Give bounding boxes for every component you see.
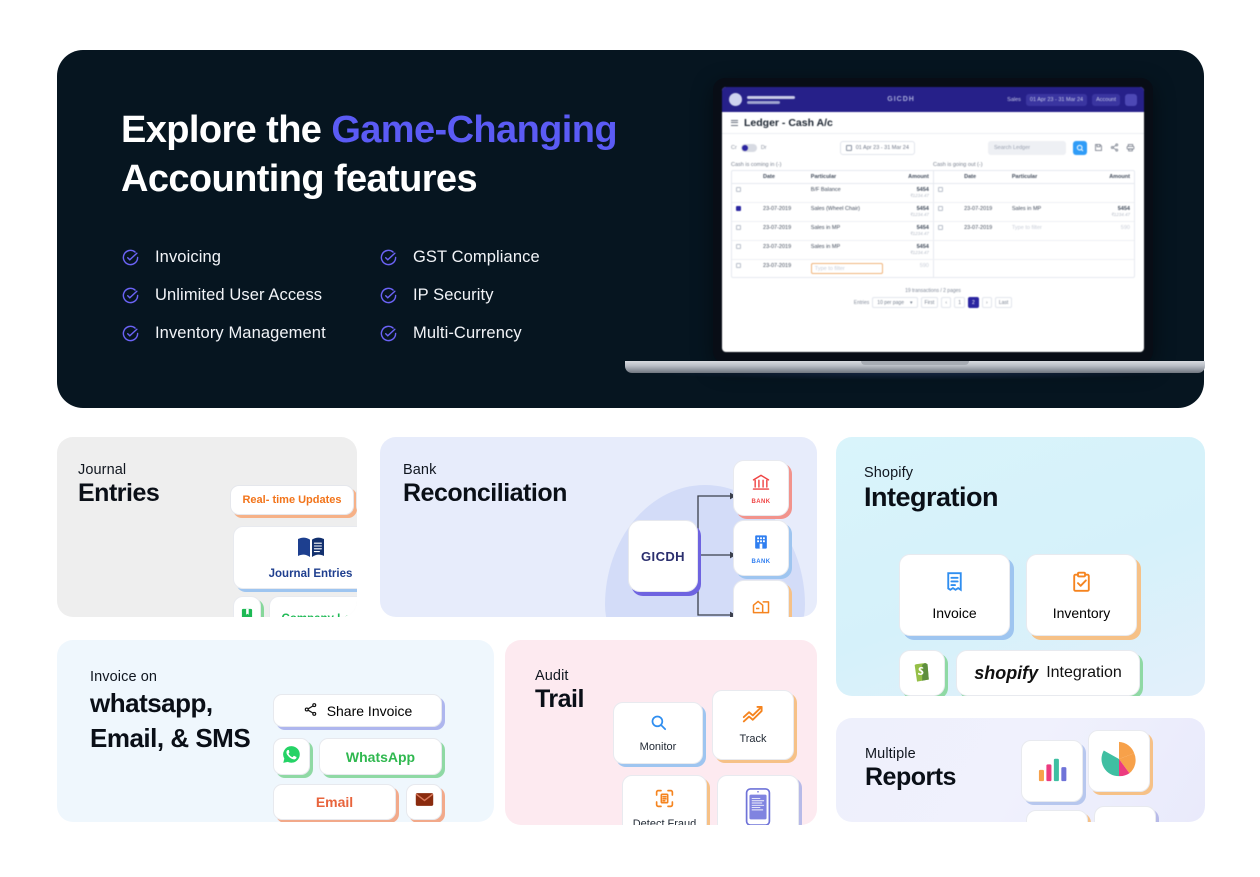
bank-node-caption: BANK bbox=[752, 559, 771, 565]
check-circle-icon bbox=[379, 286, 398, 305]
feature-label: Inventory Management bbox=[155, 324, 326, 343]
filter-input[interactable]: Type to filter bbox=[809, 260, 891, 277]
shopify-inventory-tile[interactable]: Inventory bbox=[1026, 554, 1137, 636]
topbar-sales-label[interactable]: Sales bbox=[1007, 97, 1021, 103]
gicdh-logo-text: GICDH bbox=[641, 549, 685, 564]
share-icon bbox=[303, 702, 318, 720]
row-checkbox[interactable] bbox=[736, 244, 741, 249]
pagination-first[interactable]: First bbox=[921, 297, 939, 308]
cell-particular-right bbox=[1010, 184, 1092, 202]
email-icon-button[interactable] bbox=[406, 784, 442, 820]
pagination-last[interactable]: Last bbox=[995, 297, 1012, 308]
app-topbar-actions: Sales 01 Apr 23 - 31 Mar 24 Account bbox=[1007, 94, 1137, 106]
col-date-right: Date bbox=[962, 171, 1010, 183]
pagination-next[interactable]: › bbox=[982, 297, 992, 308]
col-amount-right: Amount bbox=[1092, 171, 1134, 183]
topbar-daterange[interactable]: 01 Apr 23 - 31 Mar 24 bbox=[1026, 94, 1087, 106]
search-ledger-input[interactable]: Search Ledger bbox=[988, 141, 1066, 155]
audit-monitor-tile[interactable]: Monitor bbox=[613, 702, 703, 764]
card-header: Multiple Reports bbox=[865, 746, 956, 792]
shopify-bag-icon bbox=[911, 659, 933, 688]
pagination-summary: 19 transactions / 2 pages bbox=[722, 288, 1144, 294]
bar-chart-tile[interactable] bbox=[1021, 740, 1083, 802]
cell-date-left: 23-07-2019 bbox=[761, 260, 809, 277]
topbar-account[interactable]: Account bbox=[1092, 94, 1120, 106]
envelope-icon bbox=[415, 792, 434, 812]
cell-date-left: 23-07-2019 bbox=[761, 241, 809, 259]
card-shopify-integration: Shopify Integration Invoice Inventory bbox=[836, 437, 1205, 696]
card-kicker: Journal bbox=[78, 462, 159, 478]
feature-item-invoicing: Invoicing bbox=[121, 248, 379, 267]
app-toolbar: Cr Dr 01 Apr 23 - 31 Mar 24 Search Ledge… bbox=[722, 134, 1144, 162]
company-name bbox=[747, 96, 795, 104]
app-screenshot: GICDH Sales 01 Apr 23 - 31 Mar 24 Accoun… bbox=[722, 87, 1144, 352]
col-particular-right: Particular bbox=[1010, 171, 1092, 183]
pagination-prev[interactable]: ‹ bbox=[941, 297, 951, 308]
cell-amount-right bbox=[1092, 184, 1134, 202]
group-cash-out: Cash is going out (-) bbox=[933, 162, 1135, 168]
feature-label: Invoicing bbox=[155, 248, 221, 267]
row-checkbox[interactable] bbox=[938, 225, 943, 230]
feature-item-gst-compliance: GST Compliance bbox=[379, 248, 637, 267]
row-checkbox[interactable] bbox=[736, 187, 741, 192]
tile-label: Monitor bbox=[640, 741, 677, 754]
tile-label: Detect Fraud bbox=[633, 818, 697, 825]
page-root: Explore the Game-Changing Accounting fea… bbox=[0, 0, 1260, 877]
tile-label: Inventory bbox=[1053, 605, 1111, 621]
search-button[interactable] bbox=[1073, 141, 1087, 155]
feature-label: Unlimited User Access bbox=[155, 286, 322, 305]
share-invoice-button[interactable]: Share Invoice bbox=[273, 694, 442, 727]
cell-date-right: 23-07-2019 bbox=[962, 222, 1010, 240]
card-kicker: Shopify bbox=[864, 465, 998, 481]
calendar-icon bbox=[846, 145, 852, 151]
app-topbar: GICDH Sales 01 Apr 23 - 31 Mar 24 Accoun… bbox=[722, 87, 1144, 112]
card-title: Entries bbox=[78, 479, 159, 508]
card-multiple-reports: Multiple Reports bbox=[836, 718, 1205, 822]
cell-particular-left: Sales (Wheel Chair) bbox=[809, 203, 891, 221]
feature-item-ip-security: IP Security bbox=[379, 286, 637, 305]
table-row[interactable]: B/F Balance 5454₹1234.47 bbox=[732, 184, 1134, 203]
cell-amount-left: 590 bbox=[891, 260, 933, 277]
row-checkbox[interactable] bbox=[938, 206, 943, 211]
report-tile-4[interactable] bbox=[1094, 806, 1156, 822]
bank-building-icon bbox=[751, 472, 771, 497]
row-checkbox[interactable] bbox=[938, 187, 943, 192]
company-ledger-tile[interactable]: Company Ledger bbox=[269, 596, 357, 617]
card-title: Trail bbox=[535, 685, 584, 714]
whatsapp-icon-button[interactable] bbox=[273, 738, 310, 775]
cr-dr-toggle[interactable]: Cr Dr bbox=[731, 144, 767, 152]
table-row[interactable]: 23-07-2019 Sales in MP 5454₹1234.47 bbox=[732, 241, 1134, 260]
cell-date-left bbox=[761, 184, 809, 202]
realtime-updates-chip[interactable]: Real- time Updates bbox=[230, 485, 354, 515]
row-checkbox[interactable] bbox=[736, 225, 741, 230]
date-range-picker[interactable]: 01 Apr 23 - 31 Mar 24 bbox=[840, 141, 915, 155]
journal-entries-tile[interactable]: Journal Entries bbox=[233, 526, 357, 589]
table-row[interactable]: 23-07-2019 Sales (Wheel Chair) 5454₹1234… bbox=[732, 203, 1134, 222]
whatsapp-label: WhatsApp bbox=[346, 749, 415, 765]
clock-icon[interactable] bbox=[356, 485, 357, 515]
chevron-down-icon: ▾ bbox=[910, 300, 913, 306]
card-header: Audit Trail bbox=[535, 668, 584, 714]
card-title: Reconciliation bbox=[403, 479, 567, 508]
card-kicker: Multiple bbox=[865, 746, 956, 762]
shopify-bag-tile[interactable] bbox=[899, 650, 945, 696]
gicdh-hub-node[interactable]: GICDH bbox=[628, 520, 698, 592]
table-row[interactable]: 23-07-2019 Sales in MP 5454₹1234.47 23-0… bbox=[732, 222, 1134, 241]
laptop-mockup: GICDH Sales 01 Apr 23 - 31 Mar 24 Accoun… bbox=[625, 78, 1205, 383]
col-date-left: Date bbox=[761, 171, 809, 183]
company-ledger-icon-tile[interactable] bbox=[233, 596, 261, 617]
cell-amount-left: 5454₹1234.47 bbox=[891, 203, 933, 221]
feature-item-multi-currency: Multi-Currency bbox=[379, 324, 637, 343]
card-journal-entries: Journal Entries Real- time Updates Journ… bbox=[57, 437, 357, 617]
audit-mobile-report-tile[interactable] bbox=[717, 775, 799, 825]
cell-date-left: 23-07-2019 bbox=[761, 203, 809, 221]
company-logo-icon bbox=[729, 93, 742, 106]
bank-node-caption: BANK bbox=[752, 499, 771, 505]
card-title-line2: Email, & SMS bbox=[90, 721, 250, 756]
card-header: Invoice on whatsapp, Email, & SMS bbox=[90, 669, 250, 756]
cell-amount-right: 5454₹1234.47 bbox=[1092, 203, 1134, 221]
col-amount-left: Amount bbox=[891, 171, 933, 183]
card-audit-trail: Audit Trail Monitor Track bbox=[505, 640, 817, 825]
laptop-base bbox=[625, 361, 1205, 373]
share-invoice-label: Share Invoice bbox=[327, 703, 413, 719]
entries-label: Entries bbox=[854, 300, 870, 306]
card-title: Reports bbox=[865, 763, 956, 792]
menu-icon[interactable] bbox=[731, 120, 738, 126]
card-title: Integration bbox=[864, 482, 998, 513]
col-particular-left: Particular bbox=[809, 171, 891, 183]
cell-date-left: 23-07-2019 bbox=[761, 222, 809, 240]
table-pagination: 19 transactions / 2 pages Entries 10 per… bbox=[722, 288, 1144, 308]
card-header: Bank Reconciliation bbox=[403, 462, 567, 508]
shopify-bar-label: Integration bbox=[1046, 664, 1122, 682]
ledger-column-groups: Cash is coming in (-) Cash is going out … bbox=[722, 162, 1144, 168]
cell-date-right bbox=[962, 184, 1010, 202]
hero-title-accent: Game-Changing bbox=[331, 109, 617, 151]
card-header: Shopify Integration bbox=[864, 465, 998, 513]
table-header-row: Date Particular Amount Date Particular A… bbox=[732, 171, 1134, 184]
tile-label: Journal Entries bbox=[269, 568, 353, 580]
cell-particular-right[interactable]: Type to filter bbox=[1010, 222, 1092, 240]
cell-amount-right: 590 bbox=[1092, 222, 1134, 240]
bank-node-3[interactable] bbox=[733, 580, 789, 617]
hero-feature-list: Invoicing GST Compliance Unlimited User … bbox=[121, 248, 637, 343]
ledger-table: Date Particular Amount Date Particular A… bbox=[731, 170, 1135, 278]
scan-document-icon bbox=[654, 788, 675, 814]
check-circle-icon bbox=[379, 324, 398, 343]
magnifier-icon bbox=[649, 713, 668, 737]
feature-item-unlimited-user-access: Unlimited User Access bbox=[121, 286, 379, 305]
pie-chart-icon bbox=[1100, 740, 1138, 783]
entries-per-page-select[interactable]: 10 per page▾ bbox=[872, 297, 917, 308]
feature-label: GST Compliance bbox=[413, 248, 540, 267]
check-circle-icon bbox=[121, 286, 140, 305]
hero-title-part2: Accounting features bbox=[121, 158, 477, 200]
laptop-lid: GICDH Sales 01 Apr 23 - 31 Mar 24 Accoun… bbox=[713, 78, 1153, 363]
cell-amount-left: 5454₹1234.47 bbox=[891, 241, 933, 259]
email-button[interactable]: Email bbox=[273, 784, 396, 820]
check-circle-icon bbox=[121, 248, 140, 267]
shopify-invoice-tile[interactable]: Invoice bbox=[899, 554, 1010, 636]
toggle-switch[interactable] bbox=[741, 144, 757, 152]
audit-track-tile[interactable]: Track bbox=[712, 690, 794, 760]
hero-title-part1: Explore the bbox=[121, 109, 331, 151]
cell-amount-left: 5454₹1234.47 bbox=[891, 184, 933, 202]
app-brand-center: GICDH bbox=[795, 96, 1007, 103]
feature-item-inventory-management: Inventory Management bbox=[121, 324, 379, 343]
trend-lines-icon bbox=[742, 704, 765, 729]
row-checkbox[interactable] bbox=[736, 206, 741, 211]
card-header: Journal Entries bbox=[78, 462, 159, 508]
pagination-page-1[interactable]: 1 bbox=[954, 297, 965, 308]
tile-label: Track bbox=[739, 733, 766, 746]
report-tile-3[interactable] bbox=[1026, 810, 1088, 822]
office-building-icon bbox=[751, 532, 771, 557]
save-icon[interactable] bbox=[1094, 139, 1103, 157]
tile-label: Company Ledger bbox=[282, 613, 357, 618]
card-kicker: Invoice on bbox=[90, 669, 250, 685]
cell-date-right: 23-07-2019 bbox=[962, 203, 1010, 221]
card-bank-reconciliation: Bank Reconciliation GICDH BANK bbox=[380, 437, 817, 617]
mobile-report-icon bbox=[744, 788, 772, 826]
bank-node-1[interactable]: BANK bbox=[733, 460, 789, 516]
card-kicker: Bank bbox=[403, 462, 567, 478]
bank-node-2[interactable]: BANK bbox=[733, 520, 789, 576]
whatsapp-button[interactable]: WhatsApp bbox=[319, 738, 442, 775]
cell-particular-left: Sales in MP bbox=[809, 241, 891, 259]
green-book-icon bbox=[241, 608, 253, 618]
cell-particular-right: Sales in MP bbox=[1010, 203, 1092, 221]
cell-amount-left: 5454₹1234.47 bbox=[891, 222, 933, 240]
cell-particular-left: B/F Balance bbox=[809, 184, 891, 202]
table-row-filter[interactable]: 23-07-2019 Type to filter 590 bbox=[732, 260, 1134, 277]
check-circle-icon bbox=[379, 248, 398, 267]
shopify-integration-bar[interactable]: shopify Integration bbox=[956, 650, 1140, 696]
check-circle-icon bbox=[121, 324, 140, 343]
invoice-icon bbox=[942, 570, 967, 600]
share-icon[interactable] bbox=[1110, 139, 1119, 157]
pie-chart-tile[interactable] bbox=[1088, 730, 1150, 792]
row-checkbox[interactable] bbox=[736, 263, 741, 268]
pagination-page-2[interactable]: 2 bbox=[968, 297, 979, 308]
group-cash-in: Cash is coming in (-) bbox=[731, 162, 933, 168]
card-invoice-channels: Invoice on whatsapp, Email, & SMS Share … bbox=[57, 640, 494, 822]
cell-particular-left: Sales in MP bbox=[809, 222, 891, 240]
ledger-page-title: Ledger - Cash A/c bbox=[744, 117, 833, 129]
home-business-icon bbox=[751, 596, 771, 618]
topbar-avatar[interactable] bbox=[1125, 94, 1137, 106]
card-title-line1: whatsapp, bbox=[90, 686, 250, 721]
print-icon[interactable] bbox=[1126, 139, 1135, 157]
whatsapp-icon bbox=[281, 744, 302, 770]
clipboard-check-icon bbox=[1069, 570, 1094, 600]
card-kicker: Audit bbox=[535, 668, 584, 684]
audit-detect-fraud-tile[interactable]: Detect Fraud bbox=[622, 775, 707, 825]
open-book-icon bbox=[297, 536, 325, 563]
feature-label: Multi-Currency bbox=[413, 324, 522, 343]
feature-label: IP Security bbox=[413, 286, 494, 305]
bar-chart-icon bbox=[1036, 755, 1068, 788]
email-label: Email bbox=[316, 794, 353, 810]
app-page-header: Ledger - Cash A/c bbox=[722, 112, 1144, 134]
shopify-brand-text: shopify bbox=[974, 663, 1038, 684]
tile-label: Invoice bbox=[932, 605, 976, 621]
